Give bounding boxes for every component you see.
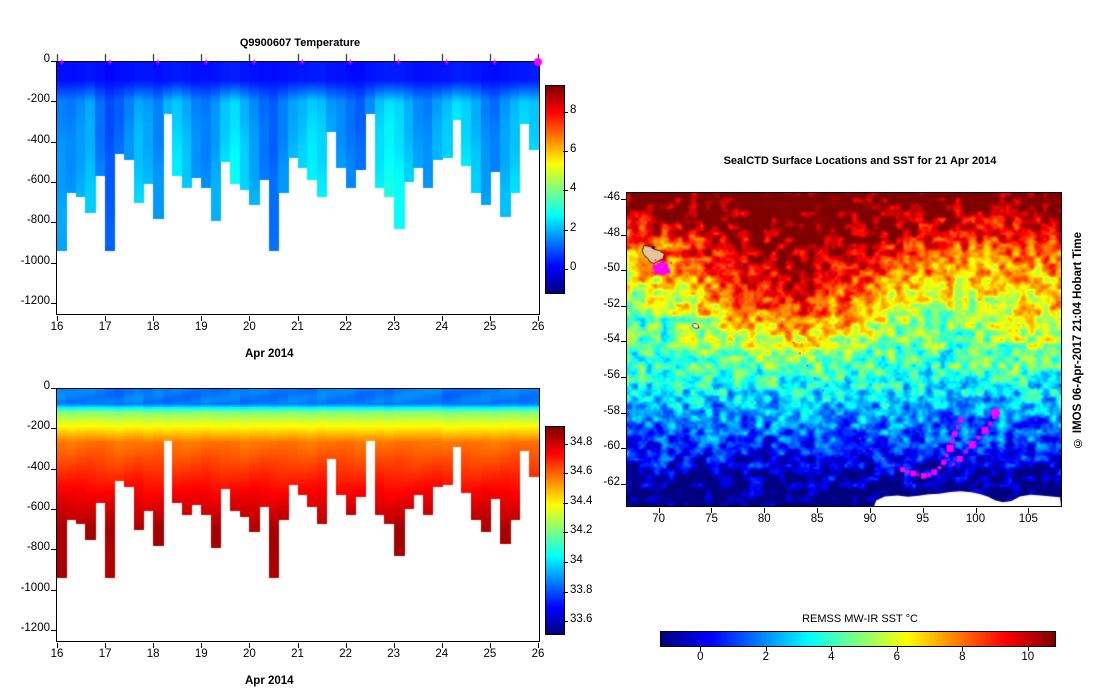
axis-tick-label: -400 [27,134,50,146]
axis-tick-label: 16 [43,648,71,660]
axis-tick [51,590,56,591]
axis-tick-label: 21 [284,648,312,660]
axis-tick-label: -200 [27,420,50,432]
axis-tick-label: 105 [1014,513,1042,525]
axis-tick-label: -54 [603,333,620,345]
axis-tick [490,643,491,648]
colorbar-tick [563,151,568,152]
axis-tick-label: -800 [27,541,50,553]
temperature-plot-frame [56,61,540,315]
sst-map-title: SealCTD Surface Locations and SST for 21… [660,155,1060,167]
colorbar-tick-label: 33.8 [570,584,592,596]
axis-tick-label: 25 [476,321,504,333]
axis-tick [621,235,626,236]
axis-tick-label: -1200 [21,295,50,307]
colorbar-tick-label: 6 [570,143,576,155]
axis-tick-label: -60 [603,440,620,452]
colorbar-tick-label: 33.6 [570,613,592,625]
colorbar-tick [563,503,568,504]
axis-tick [298,643,299,648]
axis-tick [57,643,58,648]
sst-colorbar-label: REMSS MW-IR SST °C [660,613,1060,625]
axis-tick-label: 90 [856,513,884,525]
axis-tick-label: -200 [27,93,50,105]
axis-tick [201,316,202,321]
axis-tick [105,316,106,321]
axis-tick-label: 22 [332,648,360,660]
axis-tick-label: 24 [428,321,456,333]
axis-tick [659,508,660,513]
colorbar-tick-label: 10 [1014,651,1042,663]
axis-tick [51,182,56,183]
axis-tick-label: 95 [909,513,937,525]
sst-colorbar-ticks: 0246810 [600,646,1099,668]
colorbar-tick [563,473,568,474]
axis-tick [442,643,443,648]
axis-tick-label: 17 [91,321,119,333]
colorbar-tick-label: 4 [817,651,845,663]
temperature-profile-markers [50,52,550,70]
axis-tick [923,508,924,513]
axis-tick-label: 25 [476,648,504,660]
colorbar-tick [563,190,568,191]
axis-tick [346,643,347,648]
axis-tick-label: 16 [43,321,71,333]
colorbar-tick-label: 6 [883,651,911,663]
axis-tick [442,316,443,321]
axis-tick-label: 85 [803,513,831,525]
axis-tick-label: 17 [91,648,119,660]
axis-tick [201,643,202,648]
colorbar-tick [563,444,568,445]
salinity-plot-frame [56,388,540,642]
colorbar-tick [563,269,568,270]
axis-tick [621,306,626,307]
axis-tick-label: 18 [139,648,167,660]
axis-tick [249,643,250,648]
axis-tick [51,142,56,143]
axis-tick-label: 20 [235,648,263,660]
colorbar-tick [563,562,568,563]
axis-tick [817,508,818,513]
colorbar-tick-label: 8 [948,651,976,663]
colorbar-tick-label: 34 [570,554,583,566]
axis-tick [870,508,871,513]
temperature-x-axis-label: Apr 2014 [245,348,294,360]
axis-tick-label: -600 [27,174,50,186]
axis-tick [538,316,539,321]
axis-tick-label: -58 [603,405,620,417]
axis-tick-label: -1000 [21,255,50,267]
axis-tick [621,270,626,271]
axis-tick-label: 26 [524,648,552,660]
colorbar-tick-label: 8 [570,104,576,116]
axis-tick-label: -56 [603,369,620,381]
axis-tick-label: -46 [603,191,620,203]
axis-tick [51,509,56,510]
axis-tick-label: 75 [697,513,725,525]
sst-map-frame [626,192,1062,507]
axis-tick [621,341,626,342]
axis-tick-label: 21 [284,321,312,333]
axis-tick [153,316,154,321]
salinity-x-axis: 1617181920212223242526 [0,643,560,663]
axis-tick-label: -50 [603,262,620,274]
axis-tick [51,263,56,264]
temperature-x-axis: 1617181920212223242526 [0,316,560,336]
axis-tick-label: -52 [603,298,620,310]
axis-tick [621,448,626,449]
axis-tick-label: 18 [139,321,167,333]
axis-tick-label: 24 [428,648,456,660]
axis-tick-label: -400 [27,461,50,473]
axis-tick [51,388,56,389]
axis-tick-label: -1000 [21,582,50,594]
sst-map-y-axis: -46-48-50-52-54-56-58-60-62 [570,186,626,512]
axis-tick [346,316,347,321]
salinity-x-axis-label: Apr 2014 [245,675,294,687]
axis-tick-label: -48 [603,227,620,239]
sst-colorbar-frame [660,631,1056,647]
salinity-y-axis: 0-200-400-600-800-1000-1200 [0,382,56,647]
axis-tick [764,508,765,513]
axis-tick [1028,508,1029,513]
axis-tick-label: 100 [962,513,990,525]
axis-tick-label: 70 [645,513,673,525]
copyright-label: © IMOS 06-Apr-2017 21:04 Hobart Time [1072,232,1084,448]
axis-tick-label: 19 [187,321,215,333]
temperature-colorbar-frame [545,85,565,294]
axis-tick [621,413,626,414]
axis-tick [621,377,626,378]
axis-tick [538,643,539,648]
colorbar-tick [563,112,568,113]
axis-tick [394,316,395,321]
axis-tick-label: 80 [750,513,778,525]
colorbar-tick [563,592,568,593]
axis-tick-label: 23 [380,321,408,333]
axis-tick [249,316,250,321]
axis-tick-label: 23 [380,648,408,660]
temperature-y-axis: 0-200-400-600-800-1000-1200 [0,55,56,320]
axis-tick [57,316,58,321]
axis-tick [490,316,491,321]
axis-tick [976,508,977,513]
sst-map-x-axis: 707580859095100105 [570,508,1090,528]
axis-tick [711,508,712,513]
temperature-chart-title: Q9900607 Temperature [150,37,450,49]
axis-tick [621,484,626,485]
axis-tick-label: 0 [44,53,50,65]
colorbar-tick [563,532,568,533]
axis-tick [51,549,56,550]
axis-tick [153,643,154,648]
axis-tick-label: -600 [27,501,50,513]
axis-tick-label: 19 [187,648,215,660]
axis-tick-label: 22 [332,321,360,333]
colorbar-tick [563,621,568,622]
axis-tick [51,222,56,223]
axis-tick-label: 26 [524,321,552,333]
axis-tick [51,630,56,631]
axis-tick [51,101,56,102]
axis-tick [621,199,626,200]
salinity-colorbar-frame [545,426,565,635]
axis-tick [51,61,56,62]
axis-tick-label: 20 [235,321,263,333]
axis-tick [51,303,56,304]
axis-tick [51,428,56,429]
axis-tick [105,643,106,648]
colorbar-tick-label: 2 [752,651,780,663]
axis-tick [51,469,56,470]
axis-tick [394,643,395,648]
axis-tick [298,316,299,321]
axis-tick-label: -1200 [21,622,50,634]
axis-tick-label: -800 [27,214,50,226]
colorbar-tick-label: 0 [686,651,714,663]
axis-tick-label: 0 [44,380,50,392]
axis-tick-label: -62 [603,476,620,488]
colorbar-tick [563,230,568,231]
